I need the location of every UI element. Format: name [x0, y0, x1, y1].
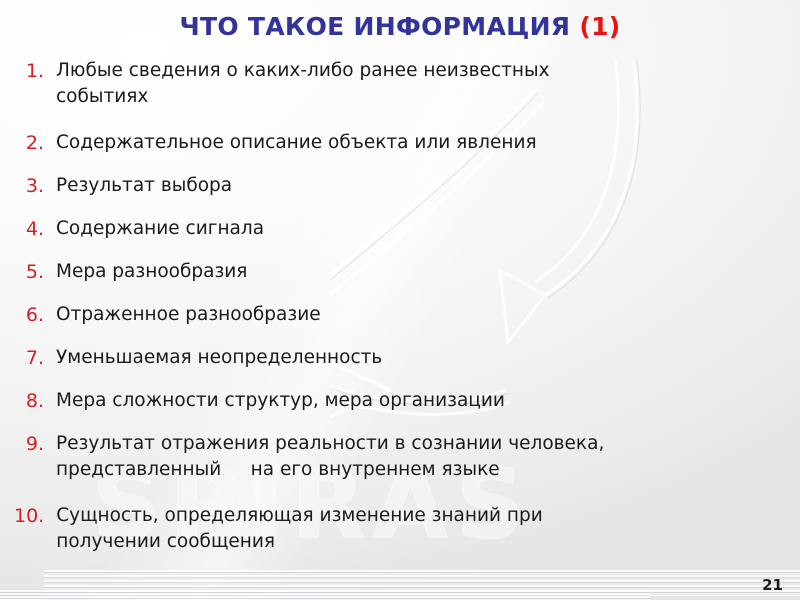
list-item-number: 2. [14, 130, 56, 156]
definition-list: 1. Любые сведения о каких-либо ранее неи… [14, 58, 714, 571]
list-item-text: Мера сложности структур, мера организаци… [56, 388, 714, 414]
list-item: 7. Уменьшаемая неопределенность [14, 345, 714, 371]
list-item: 6. Отраженное разнообразие [14, 302, 714, 328]
list-item-number: 1. [14, 58, 56, 84]
list-item: 5. Мера разнообразия [14, 259, 714, 285]
list-item-text: Мера разнообразия [56, 259, 714, 285]
page-title-main: ЧТО ТАКОЕ ИНФОРМАЦИЯ [179, 12, 570, 41]
list-item: 10. Сущность, определяющая изменение зна… [14, 503, 714, 555]
list-item: 1. Любые сведения о каких-либо ранее неи… [14, 58, 714, 110]
list-item-text: Уменьшаемая неопределенность [56, 345, 714, 371]
list-item-number: 6. [14, 302, 56, 328]
list-item-number: 7. [14, 345, 56, 371]
bottom-stripes-secondary [0, 590, 650, 600]
list-item-text: Результат отражения реальности в сознани… [56, 431, 714, 483]
list-item: 9. Результат отражения реальности в созн… [14, 431, 714, 483]
page-title: ЧТО ТАКОЕ ИНФОРМАЦИЯ (1) [0, 12, 800, 41]
list-item-text: Отраженное разнообразие [56, 302, 714, 328]
list-item-number: 3. [14, 173, 56, 199]
page-number: 21 [762, 576, 783, 594]
list-item-text: Любые сведения о каких-либо ранее неизве… [56, 58, 714, 110]
bottom-stripes [44, 570, 800, 596]
list-item-text: Содержание сигнала [56, 216, 714, 242]
list-item-number: 5. [14, 259, 56, 285]
slide: SPIRAS ЧТО ТАКОЕ ИНФОРМАЦИЯ (1) 1. Любые… [0, 0, 800, 600]
list-item: 4. Содержание сигнала [14, 216, 714, 242]
page-title-index: (1) [579, 12, 620, 41]
list-item: 8. Мера сложности структур, мера организ… [14, 388, 714, 414]
list-item: 2. Содержательное описание объекта или я… [14, 130, 714, 156]
list-item-text: Результат выбора [56, 173, 714, 199]
list-item-text: Содержательное описание объекта или явле… [56, 130, 714, 156]
list-item-number: 10. [14, 503, 56, 529]
list-item-text: Сущность, определяющая изменение знаний … [56, 503, 714, 555]
list-item: 3. Результат выбора [14, 173, 714, 199]
list-item-number: 4. [14, 216, 56, 242]
list-item-number: 8. [14, 388, 56, 414]
list-item-number: 9. [14, 431, 56, 457]
